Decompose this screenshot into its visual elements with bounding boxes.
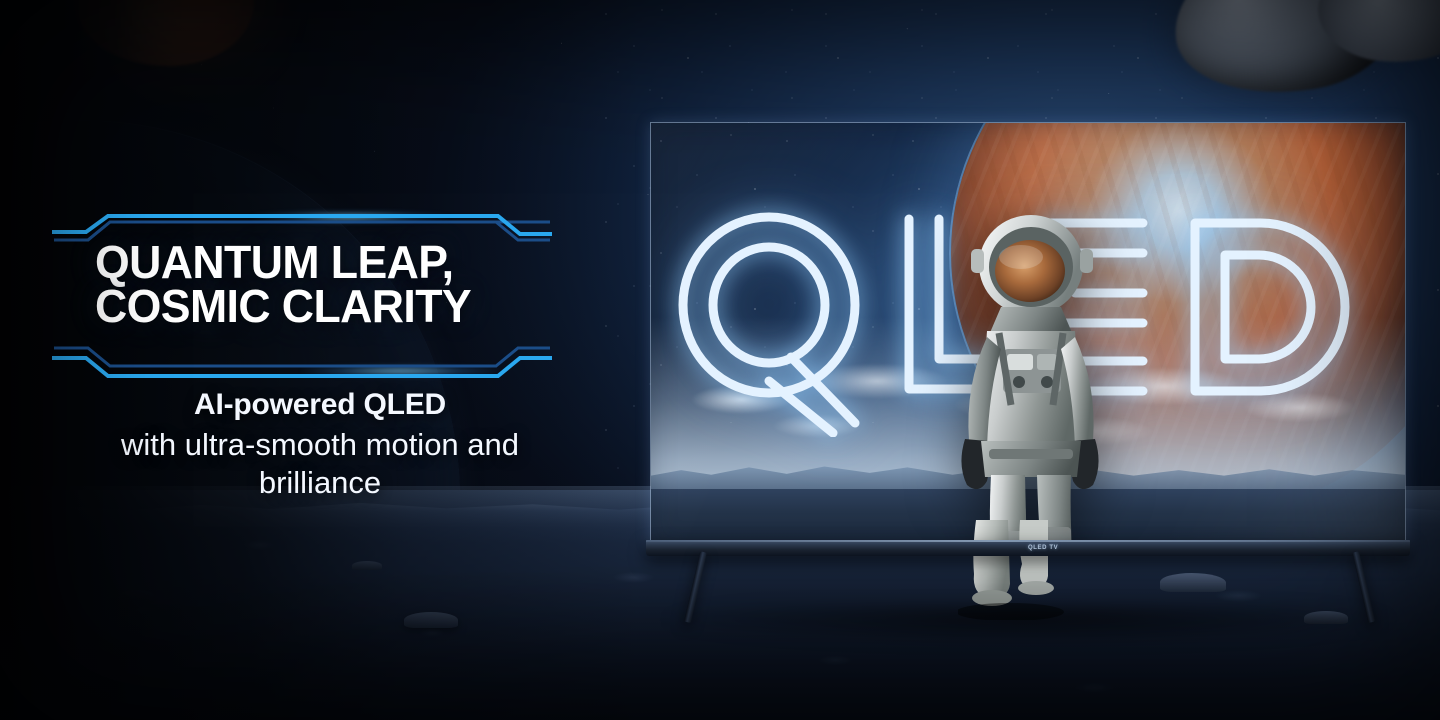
decorative-bracket-bottom: [52, 346, 552, 380]
promo-subtitle: AI-powered QLED with ultra-smooth motion…: [60, 388, 580, 502]
qled-tv-promo-banner: QLED TV QUANTUM LEAP, COSMIC CLARITY AI-…: [0, 0, 1440, 720]
headline-line-2: COSMIC CLARITY: [95, 284, 551, 328]
subtitle-body: with ultra-smooth motion and brilliance: [60, 426, 580, 502]
tv-bezel: [650, 122, 1406, 548]
tv-brand-logo: QLED TV: [1028, 545, 1058, 551]
tv-chassis-highlight: [646, 540, 1410, 542]
page-title: QUANTUM LEAP, COSMIC CLARITY: [95, 240, 551, 328]
subtitle-bold-line: AI-powered QLED: [60, 388, 580, 422]
qled-television: [650, 122, 1406, 548]
bottom-vignette: [0, 570, 1440, 720]
